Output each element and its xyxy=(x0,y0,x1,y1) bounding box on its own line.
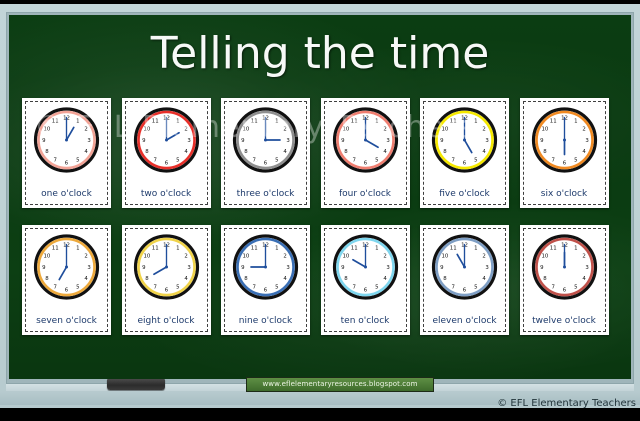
clock-face: 121234567891011 xyxy=(420,229,509,307)
svg-text:11: 11 xyxy=(350,118,357,124)
svg-text:7: 7 xyxy=(252,157,255,163)
clock-face: 121234567891011 xyxy=(122,102,211,180)
flashcard-one-o-clock[interactable]: 121234567891011one o'clock xyxy=(22,98,111,208)
svg-text:11: 11 xyxy=(151,245,158,251)
svg-text:9: 9 xyxy=(341,265,345,271)
clock-illustration: 121234567891011 xyxy=(221,229,310,307)
svg-text:6: 6 xyxy=(463,161,467,167)
svg-text:11: 11 xyxy=(549,118,556,124)
clock-center-pin xyxy=(463,266,466,269)
svg-text:4: 4 xyxy=(84,149,88,155)
svg-text:2: 2 xyxy=(482,254,485,260)
svg-text:9: 9 xyxy=(142,138,146,144)
svg-text:7: 7 xyxy=(451,157,454,163)
page-title: Telling the time xyxy=(9,29,631,79)
svg-text:11: 11 xyxy=(450,245,457,251)
svg-text:2: 2 xyxy=(582,127,585,133)
svg-text:6: 6 xyxy=(463,288,467,294)
clock-time-label: eight o'clock xyxy=(122,316,211,326)
svg-text:1: 1 xyxy=(375,245,378,251)
svg-text:3: 3 xyxy=(585,138,588,144)
svg-text:9: 9 xyxy=(540,138,544,144)
clock-face: 121234567891011 xyxy=(22,229,111,307)
svg-text:9: 9 xyxy=(440,265,444,271)
svg-text:2: 2 xyxy=(482,127,485,133)
svg-text:7: 7 xyxy=(252,284,255,290)
svg-text:5: 5 xyxy=(375,157,378,163)
svg-text:10: 10 xyxy=(541,254,548,260)
svg-text:9: 9 xyxy=(241,265,245,271)
clock-center-pin xyxy=(364,139,367,142)
svg-text:2: 2 xyxy=(383,127,386,133)
svg-text:5: 5 xyxy=(275,157,278,163)
flashcard-four-o-clock[interactable]: 121234567891011four o'clock xyxy=(321,98,410,208)
svg-text:8: 8 xyxy=(443,276,447,282)
svg-text:3: 3 xyxy=(386,265,389,271)
clock-time-label: eleven o'clock xyxy=(420,316,509,326)
svg-text:10: 10 xyxy=(143,127,150,133)
flashcard-ten-o-clock[interactable]: 121234567891011ten o'clock xyxy=(321,225,410,335)
flashcard-grid: 121234567891011one o'clock12123456789101… xyxy=(22,98,608,336)
svg-text:4: 4 xyxy=(184,276,188,282)
clock-time-label: two o'clock xyxy=(122,189,211,199)
flashcard-eight-o-clock[interactable]: 121234567891011eight o'clock xyxy=(122,225,211,335)
svg-text:5: 5 xyxy=(375,284,378,290)
clock-illustration: 121234567891011 xyxy=(520,102,609,180)
svg-text:1: 1 xyxy=(176,245,179,251)
clock-illustration: 121234567891011 xyxy=(420,229,509,307)
svg-text:7: 7 xyxy=(352,284,355,290)
svg-text:8: 8 xyxy=(443,149,447,155)
flashcard-five-o-clock[interactable]: 121234567891011five o'clock xyxy=(420,98,509,208)
clock-time-label: seven o'clock xyxy=(22,316,111,326)
clock-center-pin xyxy=(364,266,367,269)
svg-text:3: 3 xyxy=(187,265,190,271)
clock-time-label: five o'clock xyxy=(420,189,509,199)
svg-text:10: 10 xyxy=(243,127,250,133)
svg-text:8: 8 xyxy=(45,149,49,155)
svg-text:6: 6 xyxy=(363,161,367,167)
svg-text:1: 1 xyxy=(275,245,278,251)
svg-text:4: 4 xyxy=(283,149,287,155)
clock-time-label: three o'clock xyxy=(221,189,310,199)
svg-text:9: 9 xyxy=(440,138,444,144)
svg-text:8: 8 xyxy=(45,276,49,282)
svg-text:4: 4 xyxy=(383,149,387,155)
svg-text:1: 1 xyxy=(574,245,577,251)
letterbox-bottom xyxy=(0,408,640,421)
svg-text:7: 7 xyxy=(352,157,355,163)
clock-time-label: four o'clock xyxy=(321,189,410,199)
website-url-text: www.eflelementaryresources.blogspot.com xyxy=(247,378,433,391)
svg-text:1: 1 xyxy=(375,118,378,124)
clock-illustration: 121234567891011 xyxy=(520,229,609,307)
svg-text:4: 4 xyxy=(482,276,486,282)
clock-face: 121234567891011 xyxy=(520,229,609,307)
svg-text:1: 1 xyxy=(176,118,179,124)
svg-text:7: 7 xyxy=(153,284,156,290)
flashcard-three-o-clock[interactable]: 121234567891011three o'clock xyxy=(221,98,310,208)
svg-text:3: 3 xyxy=(187,138,190,144)
svg-text:10: 10 xyxy=(44,254,51,260)
clock-center-pin xyxy=(563,266,566,269)
svg-text:2: 2 xyxy=(283,127,286,133)
svg-text:5: 5 xyxy=(76,284,79,290)
slide-screen: Telling the time 121234567891011one o'cl… xyxy=(0,0,640,421)
svg-text:6: 6 xyxy=(65,161,69,167)
svg-text:5: 5 xyxy=(76,157,79,163)
svg-text:5: 5 xyxy=(176,284,179,290)
svg-text:1: 1 xyxy=(474,118,477,124)
svg-text:2: 2 xyxy=(84,127,87,133)
svg-text:10: 10 xyxy=(442,127,449,133)
svg-text:1: 1 xyxy=(76,118,79,124)
svg-text:7: 7 xyxy=(153,157,156,163)
svg-text:3: 3 xyxy=(386,138,389,144)
eraser-icon xyxy=(107,379,165,390)
flashcard-twelve-o-clock[interactable]: 121234567891011twelve o'clock xyxy=(520,225,609,335)
clock-face: 121234567891011 xyxy=(520,102,609,180)
svg-text:5: 5 xyxy=(474,157,477,163)
clock-time-label: one o'clock xyxy=(22,189,111,199)
svg-text:5: 5 xyxy=(275,284,278,290)
svg-text:7: 7 xyxy=(551,157,554,163)
svg-text:4: 4 xyxy=(184,149,188,155)
clock-center-pin xyxy=(65,266,68,269)
clock-time-label: twelve o'clock xyxy=(520,316,609,326)
svg-text:8: 8 xyxy=(145,276,149,282)
svg-text:2: 2 xyxy=(283,254,286,260)
clock-center-pin xyxy=(463,139,466,142)
svg-text:6: 6 xyxy=(264,161,268,167)
svg-text:10: 10 xyxy=(143,254,150,260)
svg-text:10: 10 xyxy=(243,254,250,260)
clock-center-pin xyxy=(264,139,267,142)
clock-illustration: 121234567891011 xyxy=(22,102,111,180)
clock-center-pin xyxy=(264,266,267,269)
svg-text:8: 8 xyxy=(244,276,248,282)
svg-text:5: 5 xyxy=(474,284,477,290)
svg-text:11: 11 xyxy=(251,118,258,124)
clock-illustration: 121234567891011 xyxy=(122,102,211,180)
flashcard-nine-o-clock[interactable]: 121234567891011nine o'clock xyxy=(221,225,310,335)
svg-text:4: 4 xyxy=(582,149,586,155)
clock-time-label: nine o'clock xyxy=(221,316,310,326)
svg-text:9: 9 xyxy=(142,265,146,271)
clock-face: 121234567891011 xyxy=(221,229,310,307)
svg-text:1: 1 xyxy=(474,245,477,251)
svg-text:5: 5 xyxy=(574,284,577,290)
svg-text:3: 3 xyxy=(485,265,488,271)
svg-text:1: 1 xyxy=(76,245,79,251)
svg-text:6: 6 xyxy=(65,288,69,294)
svg-text:10: 10 xyxy=(342,254,349,260)
svg-text:10: 10 xyxy=(44,127,51,133)
svg-text:7: 7 xyxy=(53,284,56,290)
svg-text:4: 4 xyxy=(482,149,486,155)
svg-text:7: 7 xyxy=(451,284,454,290)
svg-text:8: 8 xyxy=(145,149,149,155)
clock-illustration: 121234567891011 xyxy=(22,229,111,307)
svg-text:5: 5 xyxy=(574,157,577,163)
svg-text:7: 7 xyxy=(53,157,56,163)
clock-face: 121234567891011 xyxy=(221,102,310,180)
svg-text:8: 8 xyxy=(344,149,348,155)
flashcard-eleven-o-clock[interactable]: 121234567891011eleven o'clock xyxy=(420,225,509,335)
svg-text:9: 9 xyxy=(42,265,46,271)
svg-text:11: 11 xyxy=(151,118,158,124)
svg-text:11: 11 xyxy=(251,245,258,251)
clock-time-label: ten o'clock xyxy=(321,316,410,326)
svg-text:1: 1 xyxy=(574,118,577,124)
svg-text:9: 9 xyxy=(241,138,245,144)
svg-text:8: 8 xyxy=(244,149,248,155)
clock-face: 121234567891011 xyxy=(22,102,111,180)
svg-text:8: 8 xyxy=(543,276,547,282)
svg-text:2: 2 xyxy=(184,127,187,133)
svg-text:11: 11 xyxy=(350,245,357,251)
clock-face: 121234567891011 xyxy=(122,229,211,307)
svg-text:4: 4 xyxy=(383,276,387,282)
svg-text:2: 2 xyxy=(84,254,87,260)
flashcard-two-o-clock[interactable]: 121234567891011two o'clock xyxy=(122,98,211,208)
clock-time-label: six o'clock xyxy=(520,189,609,199)
svg-text:3: 3 xyxy=(87,138,90,144)
flashcard-seven-o-clock[interactable]: 121234567891011seven o'clock xyxy=(22,225,111,335)
svg-text:9: 9 xyxy=(540,265,544,271)
svg-text:6: 6 xyxy=(164,161,168,167)
svg-text:6: 6 xyxy=(562,288,566,294)
svg-text:5: 5 xyxy=(176,157,179,163)
svg-text:10: 10 xyxy=(342,127,349,133)
svg-text:3: 3 xyxy=(585,265,588,271)
clock-face: 121234567891011 xyxy=(321,229,410,307)
svg-text:8: 8 xyxy=(543,149,547,155)
svg-text:7: 7 xyxy=(551,284,554,290)
clock-illustration: 121234567891011 xyxy=(221,102,310,180)
svg-text:10: 10 xyxy=(442,254,449,260)
svg-text:2: 2 xyxy=(383,254,386,260)
svg-text:2: 2 xyxy=(582,254,585,260)
flashcard-six-o-clock[interactable]: 121234567891011six o'clock xyxy=(520,98,609,208)
svg-text:3: 3 xyxy=(87,265,90,271)
clock-illustration: 121234567891011 xyxy=(321,102,410,180)
svg-text:4: 4 xyxy=(582,276,586,282)
svg-text:11: 11 xyxy=(450,118,457,124)
svg-text:8: 8 xyxy=(344,276,348,282)
svg-text:3: 3 xyxy=(485,138,488,144)
svg-text:3: 3 xyxy=(286,265,289,271)
clock-illustration: 121234567891011 xyxy=(122,229,211,307)
svg-text:11: 11 xyxy=(52,245,59,251)
svg-text:11: 11 xyxy=(52,118,59,124)
clock-illustration: 121234567891011 xyxy=(420,102,509,180)
svg-text:3: 3 xyxy=(286,138,289,144)
svg-text:4: 4 xyxy=(283,276,287,282)
svg-text:2: 2 xyxy=(184,254,187,260)
clock-center-pin xyxy=(165,266,168,269)
svg-text:4: 4 xyxy=(84,276,88,282)
svg-text:11: 11 xyxy=(549,245,556,251)
svg-text:9: 9 xyxy=(42,138,46,144)
website-url-badge[interactable]: www.eflelementaryresources.blogspot.com xyxy=(246,377,434,392)
svg-text:10: 10 xyxy=(541,127,548,133)
clock-face: 121234567891011 xyxy=(420,102,509,180)
svg-text:1: 1 xyxy=(275,118,278,124)
clock-illustration: 121234567891011 xyxy=(321,229,410,307)
svg-text:6: 6 xyxy=(164,288,168,294)
svg-text:9: 9 xyxy=(341,138,345,144)
clock-center-pin xyxy=(563,139,566,142)
svg-text:6: 6 xyxy=(562,161,566,167)
clock-center-pin xyxy=(65,139,68,142)
clock-face: 121234567891011 xyxy=(321,102,410,180)
svg-text:6: 6 xyxy=(264,288,268,294)
clock-center-pin xyxy=(165,139,168,142)
svg-text:6: 6 xyxy=(363,288,367,294)
